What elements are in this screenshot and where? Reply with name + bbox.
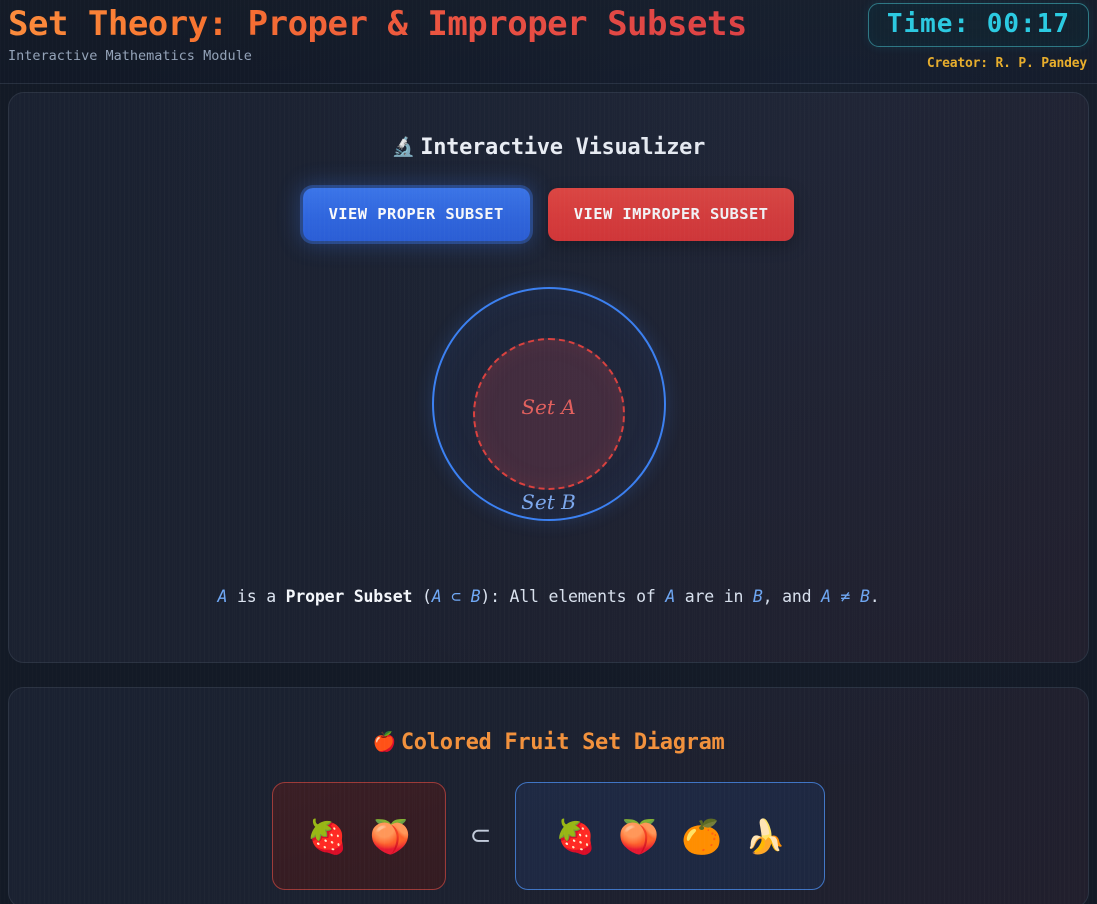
explanation-strong: Proper Subset (286, 587, 413, 606)
tangerine-icon: 🍊 (681, 820, 722, 853)
explanation-subset-operator: ⊂ (441, 587, 470, 606)
explanation-var-a2: A (432, 587, 442, 606)
page-subtitle: Interactive Mathematics Module (8, 48, 747, 64)
venn-label-set-a: Set A (9, 395, 1088, 419)
apple-icon: 🍎 (373, 731, 396, 753)
explanation-var-a1: A (218, 587, 228, 606)
view-proper-subset-button[interactable]: VIEW PROPER SUBSET (303, 188, 530, 241)
visualizer-section-title: 🔬Interactive Visualizer (9, 93, 1088, 160)
explanation-text-5: , and (763, 587, 821, 606)
header-meta-block: Time: 00:17 Creator: R. P. Pandey (868, 3, 1089, 71)
explanation-var-a3: A (665, 587, 675, 606)
explanation-var-a4: A (821, 587, 831, 606)
venn-label-set-b: Set B (9, 490, 1088, 514)
explanation-text-6: . (870, 587, 880, 606)
explanation-text-4: are in (675, 587, 753, 606)
fruit-section-title-label: Colored Fruit Set Diagram (401, 730, 725, 755)
timer-value: Time: 00:17 (887, 9, 1070, 39)
mode-button-group: VIEW PROPER SUBSET VIEW IMPROPER SUBSET (9, 188, 1088, 241)
main-content: 🔬Interactive Visualizer VIEW PROPER SUBS… (0, 84, 1097, 904)
page-title: Set Theory: Proper & Improper Subsets (8, 2, 747, 46)
peach-icon: 🍑 (618, 820, 659, 853)
timer-badge: Time: 00:17 (868, 3, 1089, 47)
explanation-var-b1: B (471, 587, 481, 606)
explanation-text-3: ): All elements of (480, 587, 665, 606)
subset-relation-symbol: ⊂ (464, 782, 498, 890)
view-improper-subset-button[interactable]: VIEW IMPROPER SUBSET (548, 188, 795, 241)
strawberry-icon: 🍓 (307, 820, 348, 853)
creator-credit: Creator: R. P. Pandey (868, 56, 1087, 71)
fruit-set-b-column: 🍓 🍑 🍊 🍌 SET B (515, 782, 825, 904)
fruit-diagram-panel: 🍎Colored Fruit Set Diagram 🍓 🍑 SET A ⊂ 🍓… (8, 687, 1089, 904)
microscope-icon: 🔬 (392, 136, 415, 158)
visualizer-panel: 🔬Interactive Visualizer VIEW PROPER SUBS… (8, 92, 1089, 663)
header-title-block: Set Theory: Proper & Improper Subsets In… (8, 2, 747, 64)
fruit-set-b-box: 🍓 🍑 🍊 🍌 (515, 782, 825, 890)
explanation-neq-operator: ≠ (831, 587, 860, 606)
explanation-text-2: ( (412, 587, 431, 606)
strawberry-icon: 🍓 (555, 820, 596, 853)
fruit-section-title: 🍎Colored Fruit Set Diagram (9, 688, 1088, 755)
venn-diagram: Set A Set B (9, 287, 1088, 549)
fruit-set-a-box: 🍓 🍑 (272, 782, 446, 890)
explanation-var-b2: B (753, 587, 763, 606)
fruit-set-a-column: 🍓 🍑 SET A (272, 782, 446, 904)
explanation-var-b3: B (860, 587, 870, 606)
explanation-text-1: is a (227, 587, 285, 606)
banana-icon: 🍌 (744, 820, 785, 853)
fruit-sets-row: 🍓 🍑 SET A ⊂ 🍓 🍑 🍊 🍌 SET B (9, 782, 1088, 904)
app-header: Set Theory: Proper & Improper Subsets In… (0, 0, 1097, 84)
subset-explanation: A is a Proper Subset (A ⊂ B): All elemen… (9, 587, 1088, 606)
visualizer-section-title-label: Interactive Visualizer (420, 135, 705, 160)
peach-icon: 🍑 (370, 820, 411, 853)
